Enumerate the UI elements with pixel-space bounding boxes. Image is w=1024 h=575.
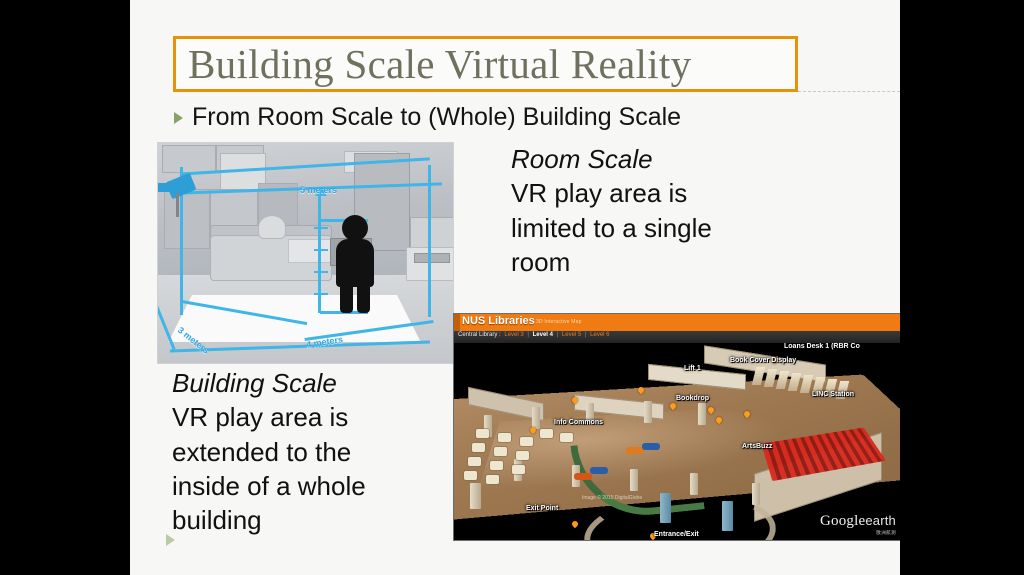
google-earth-watermark: Googleearth 歐洲航測 — [820, 514, 896, 536]
pillar — [690, 473, 698, 495]
page-title: Building Scale Virtual Reality — [188, 36, 691, 92]
bullet-item-1: From Room Scale to (Whole) Building Scal… — [174, 103, 681, 132]
map-label-entrance-exit: Entrance/Exit — [654, 531, 699, 538]
map-nav-separator: | — [585, 332, 587, 338]
triangle-bullet-icon — [174, 112, 183, 124]
bullet-item-1-label: From Room Scale to (Whole) Building Scal… — [192, 103, 681, 132]
keyboard — [414, 253, 450, 263]
nus-libraries-map-panel: NUS Libraries 3D Interactive Map Central… — [453, 313, 900, 541]
desk-cluster — [540, 429, 553, 438]
pillar-blue — [660, 493, 671, 523]
building-scale-heading: Building Scale — [172, 366, 492, 400]
measure-tick — [314, 249, 328, 251]
map-label-loans-desk: Loans Desk 1 (RBR Co — [784, 343, 860, 350]
building-scale-text-block: Building Scale VR play area is extended … — [172, 366, 492, 538]
room-scale-heading: Room Scale — [511, 142, 811, 176]
pillar — [698, 403, 706, 425]
map-nav-separator: | — [557, 332, 559, 338]
room-scale-line-1: VR play area is — [511, 176, 811, 210]
vr-base-station-pole — [176, 193, 179, 217]
map-label-exit-point: Exit Point — [526, 505, 558, 512]
seat — [574, 473, 592, 480]
pillar — [644, 401, 652, 423]
slide-title-box: Building Scale Virtual Reality — [173, 36, 798, 92]
google-earth-subtext: 歐洲航測 — [820, 530, 896, 536]
desk-cluster — [516, 451, 529, 460]
map-copyright: Image © 2015 DigitalGlobe — [582, 495, 642, 501]
pillar — [752, 483, 760, 505]
desk-cluster — [520, 437, 533, 446]
seat — [590, 467, 608, 474]
presentation-slide: Building Scale Virtual Reality From Room… — [130, 0, 900, 575]
map-nav-separator: | — [527, 332, 529, 338]
room-scale-illustration: 5 meters 3 meters 4 meters — [157, 142, 454, 364]
measure-tick — [314, 293, 328, 295]
room-scale-text-block: Room Scale VR play area is limited to a … — [511, 142, 811, 279]
building-scale-line-2: extended to the — [172, 435, 492, 469]
table — [288, 239, 334, 263]
person-silhouette-leg — [357, 281, 370, 313]
desk-cluster — [494, 447, 507, 456]
map-brand-subtitle: 3D Interactive Map — [536, 319, 582, 325]
map-pin[interactable] — [571, 520, 579, 528]
building-scale-line-3: inside of a whole — [172, 469, 492, 503]
desk-cluster — [560, 433, 573, 442]
google-earth-wordmark: Googleearth — [820, 514, 896, 529]
desk-cluster — [498, 433, 511, 442]
map-level-nav[interactable]: Central Library : Level 3 | Level 4 | Le… — [458, 332, 612, 338]
map-label-lift-1: Lift 1 — [684, 365, 701, 372]
pillar-blue — [722, 501, 733, 531]
map-nav-level-6[interactable]: Level 6 — [590, 332, 609, 338]
map-brand-title: NUS Libraries — [462, 315, 535, 327]
desk-cluster — [476, 429, 489, 438]
measure-tick — [314, 271, 328, 273]
room-scale-line-3: room — [511, 245, 811, 279]
seat — [642, 443, 660, 450]
desk-cluster — [464, 471, 477, 480]
room-play-area-floor — [168, 295, 420, 342]
map-nav-prefix: Central Library : — [458, 332, 501, 338]
map-header-tab — [454, 314, 460, 331]
map-label-linc-station: LINC Station — [812, 391, 854, 398]
play-area-edge — [428, 165, 431, 317]
map-label-info-commons: Info Commons — [554, 419, 603, 426]
height-measure-line — [318, 195, 321, 313]
lamp — [258, 215, 286, 239]
map-nav-level-3[interactable]: Level 3 — [504, 332, 523, 338]
desk-cluster — [468, 457, 481, 466]
cabinet — [162, 145, 216, 173]
google-earth-word-1: Google — [820, 513, 865, 529]
map-nav-level-5[interactable]: Level 5 — [562, 332, 581, 338]
room-width-label: 5 meters — [300, 185, 337, 195]
map-3d-canvas[interactable]: Lift 1 Bookdrop Book Cover Display Loans… — [454, 343, 900, 540]
desk-cluster — [486, 475, 499, 484]
monitor — [410, 217, 454, 249]
desk-cluster — [472, 443, 485, 452]
building-scale-line-1: VR play area is — [172, 400, 492, 434]
map-nav-level-4[interactable]: Level 4 — [533, 332, 553, 338]
person-silhouette-head — [342, 215, 368, 241]
map-label-artsbuzz: ArtsBuzz — [742, 443, 772, 450]
pillar — [630, 469, 638, 491]
map-label-bookdrop: Bookdrop — [676, 395, 709, 402]
building-scale-line-4: building — [172, 503, 492, 537]
bullet-item-2 — [166, 534, 184, 546]
desk-cluster — [512, 465, 525, 474]
map-label-book-cover-display: Book Cover Display — [730, 357, 796, 364]
triangle-bullet-icon — [166, 534, 175, 546]
measure-tick — [314, 227, 328, 229]
google-earth-word-2: earth — [865, 513, 896, 528]
pillar — [470, 483, 481, 509]
person-silhouette-body — [336, 239, 374, 287]
desk-cluster — [490, 461, 503, 470]
screen: Building Scale Virtual Reality From Room… — [0, 0, 1024, 575]
person-silhouette-leg — [340, 281, 353, 313]
room-scale-line-2: limited to a single — [511, 211, 811, 245]
title-guide-line — [798, 91, 900, 92]
